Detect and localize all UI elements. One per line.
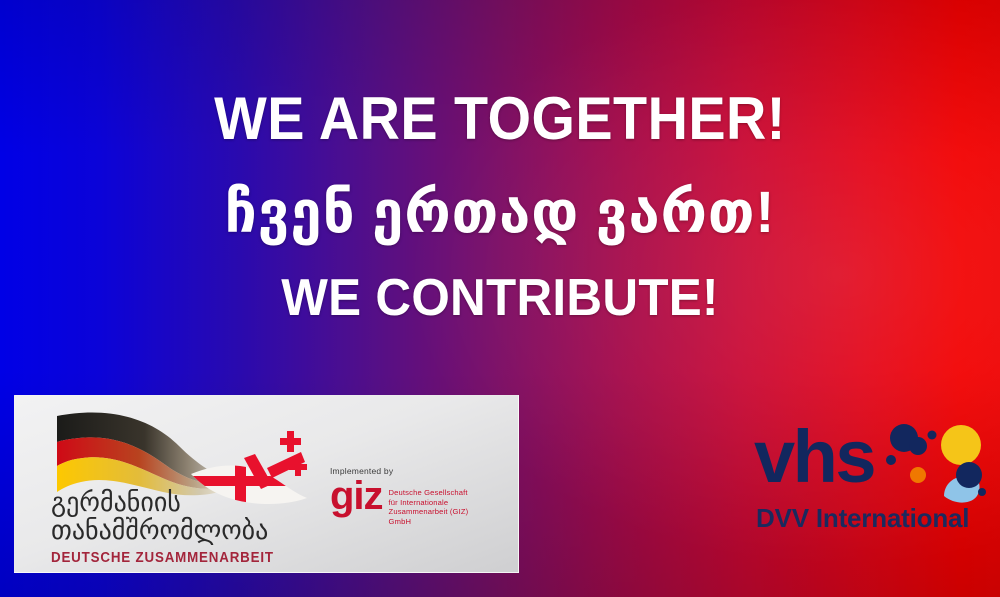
slide-canvas: WE ARE TOGETHER! ჩვენ ერთად ვართ! WE CON… — [0, 0, 1000, 597]
headline-english-bottom: WE CONTRIBUTE! — [25, 268, 975, 328]
dvv-international-label: DVV International — [756, 504, 969, 532]
german-cooperation-logo-panel: გერმანიის თანამშრომლობა DEUTSCHE ZUSAMME… — [14, 395, 519, 573]
dot-cluster-icon — [882, 418, 990, 513]
headline-english-top: WE ARE TOGETHER! — [35, 84, 965, 153]
german-cooperation-georgian-line1: გერმანიის — [51, 488, 351, 516]
vhs-wordmark: vhs — [754, 420, 874, 494]
giz-full-name: Deutsche Gesellschaft für Internationale… — [389, 479, 493, 526]
giz-wordmark-row: giz Deutsche Gesellschaft für Internatio… — [330, 479, 520, 526]
german-cooperation-wordmark: გერმანიის თანამშრომლობა DEUTSCHE ZUSAMME… — [51, 488, 351, 566]
giz-full-name-line1: Deutsche Gesellschaft — [389, 488, 468, 497]
headline-georgian: ჩვენ ერთად ვართ! — [15, 178, 985, 246]
giz-logo: Implemented by giz Deutsche Gesellschaft… — [330, 466, 520, 526]
giz-full-name-line3: Zusammenarbeit (GIZ) GmbH — [389, 507, 469, 526]
german-cooperation-german-caption: DEUTSCHE ZUSAMMENARBEIT — [51, 550, 327, 566]
german-cooperation-georgian-line2: თანამშრომლობა — [51, 516, 351, 544]
giz-full-name-line2: für Internationale — [389, 498, 449, 507]
giz-wordmark: giz — [330, 479, 383, 513]
vhs-dvv-logo: vhs DVV International — [750, 418, 990, 546]
